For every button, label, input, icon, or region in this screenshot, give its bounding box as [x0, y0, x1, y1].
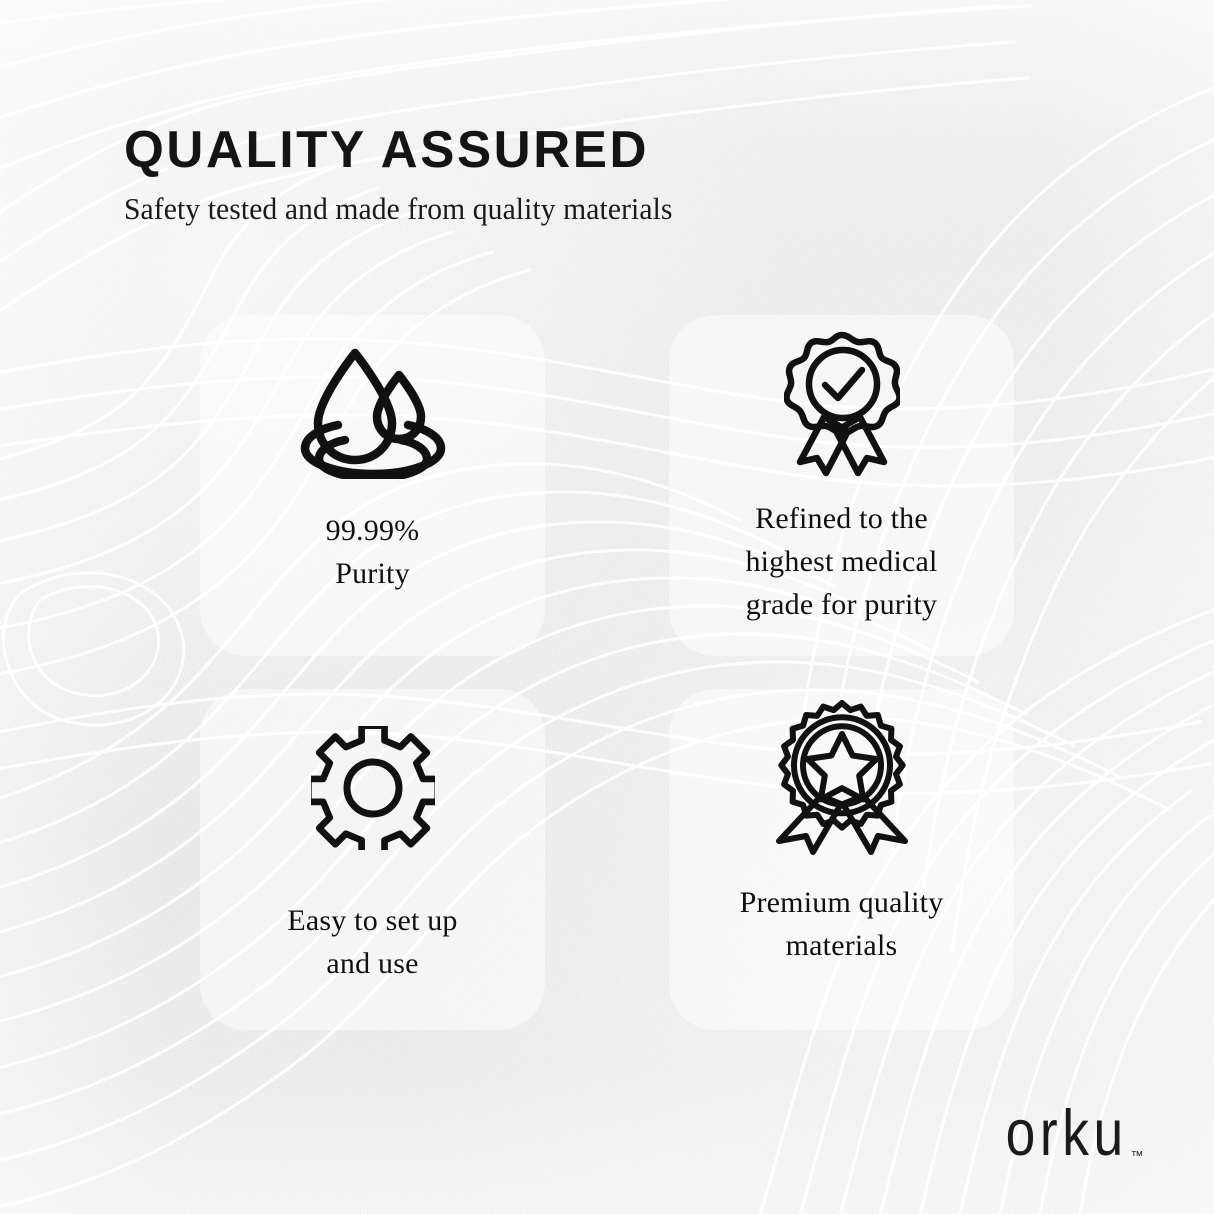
feature-card-label-line: Refined to the — [692, 497, 992, 540]
feature-card-label-line: 99.99% — [223, 509, 523, 552]
feature-card-label: Easy to set up and use — [223, 899, 523, 985]
medal-star-ribbon-icon — [775, 703, 909, 853]
feature-card-label-line: materials — [692, 924, 992, 967]
feature-card-label: Premium quality materials — [692, 881, 992, 967]
brand-wordmark: orku — [1005, 1101, 1127, 1166]
feature-card-label-line: and use — [223, 942, 523, 985]
trademark-symbol: ™ — [1131, 1149, 1145, 1162]
feature-card-label-line: Premium quality — [692, 881, 992, 924]
feature-card-medical-grade[interactable]: Refined to the highest medical grade for… — [669, 315, 1014, 656]
page-subtitle: Safety tested and made from quality mate… — [124, 192, 850, 226]
brand-logo: orku ™ — [995, 1108, 1144, 1166]
feature-card-label: Refined to the highest medical grade for… — [692, 497, 992, 626]
feature-card-grid: 99.99% Purity Refined t — [200, 315, 1014, 1030]
feature-card-label-line: Purity — [223, 552, 523, 595]
gear-icon — [311, 713, 435, 863]
promo-graphic-page: QUALITY ASSURED Safety tested and made f… — [0, 0, 1214, 1214]
feature-card-purity[interactable]: 99.99% Purity — [200, 315, 545, 656]
feature-card-premium-materials[interactable]: Premium quality materials — [669, 689, 1014, 1030]
page-title: QUALITY ASSURED — [124, 122, 873, 178]
water-drop-ripple-icon — [298, 337, 448, 487]
feature-card-label: 99.99% Purity — [223, 509, 523, 595]
feature-card-easy-setup[interactable]: Easy to set up and use — [200, 689, 545, 1030]
award-badge-check-icon — [784, 329, 900, 479]
feature-card-label-line: grade for purity — [692, 583, 992, 626]
feature-card-label-line: Easy to set up — [223, 899, 523, 942]
header: QUALITY ASSURED Safety tested and made f… — [124, 122, 884, 226]
feature-card-label-line: highest medical — [692, 540, 992, 583]
